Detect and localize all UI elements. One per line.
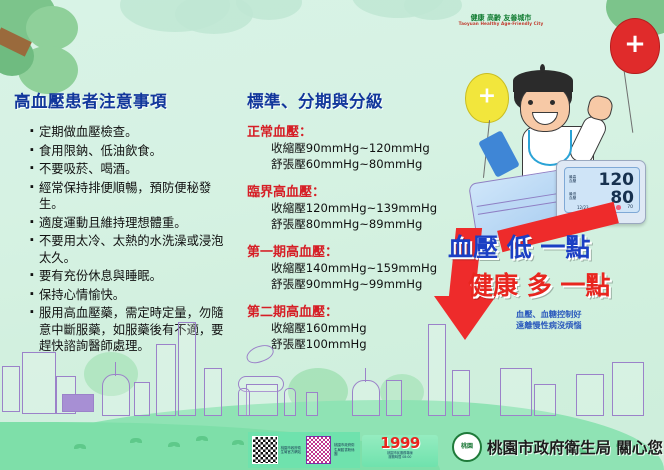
building	[204, 368, 222, 416]
systolic-label: 最高血壓	[569, 175, 579, 184]
logo-en-line: Taoyuan Healthy Age-Friendly City	[452, 22, 550, 27]
building	[428, 324, 446, 416]
city-skyline	[0, 318, 664, 428]
government-signature: 桃園 桃園市政府衛生局 關心您	[452, 432, 663, 462]
yellow-balloon: +	[465, 73, 509, 123]
systolic-range: 收縮壓90mmHg~120mmHg	[271, 140, 457, 156]
doctor-eye	[528, 100, 533, 105]
antenna-icon	[115, 362, 116, 376]
heart-icon	[616, 205, 621, 210]
systolic-range: 收縮壓120mmHg~139mmHg	[271, 200, 457, 216]
antenna-icon	[365, 368, 366, 382]
building	[612, 362, 644, 416]
systolic-range: 收縮壓140mmHg~159mmHg	[271, 260, 457, 276]
middle-heading: 標準、分期與分級	[247, 88, 457, 112]
plus-icon: +	[478, 84, 496, 109]
diastolic-range: 舒張壓90mmHg~99mmHg	[271, 276, 457, 292]
list-item: 定期做血壓檢查。	[28, 124, 229, 141]
qr-code-website[interactable]	[252, 436, 278, 464]
city-logo-badge: 健康 高齡 友善城市 Taoyuan Healthy Age-Friendly …	[452, 14, 550, 36]
building	[178, 322, 196, 416]
tower	[306, 392, 318, 416]
building	[284, 388, 296, 416]
hero-line-1: 血壓 低 一點	[448, 228, 590, 264]
plus-icon: +	[624, 29, 646, 59]
building	[386, 380, 402, 416]
list-item: 不要用太冷、太熱的水洗澡或浸泡太久。	[28, 233, 229, 266]
tower	[102, 374, 130, 416]
satellite-dish-icon	[244, 342, 276, 367]
balloon-string	[624, 71, 634, 133]
list-item: 食用限鈉、低油飲食。	[28, 143, 229, 160]
hotline-badge[interactable]: 1999 桃園市民服務專線 服務時間 08:00 免費	[362, 435, 438, 467]
building	[534, 384, 556, 416]
category-label: 臨界高血壓：	[247, 181, 457, 200]
qr-code-panel: 桃園市政府衛生局官方網站 桃園市政府衛生局臉書粉絲團	[248, 432, 360, 468]
category-label: 正常血壓：	[247, 121, 457, 140]
building	[62, 394, 94, 412]
tower	[352, 380, 380, 416]
hero-line-2: 健康 多 一點	[468, 266, 610, 302]
building	[22, 352, 56, 414]
qr-code-facebook[interactable]	[306, 436, 332, 464]
doctor-eye	[550, 100, 555, 105]
cuff-band	[477, 192, 565, 215]
hero-headline: 血壓 低 一點 健康 多 一點	[446, 228, 664, 320]
list-item: 不要吸菸、喝酒。	[28, 161, 229, 178]
poster-root: 健康 高齡 友善城市 Taoyuan Healthy Age-Friendly …	[0, 0, 664, 470]
building	[452, 370, 470, 416]
list-item: 要有充份休息與睡眠。	[28, 268, 229, 285]
middle-column: 標準、分期與分級 正常血壓： 收縮壓90mmHg~120mmHg 舒張壓60mm…	[247, 88, 457, 352]
footer-bar: 桃園市政府衛生局官方網站 桃園市政府衛生局臉書粉絲團 1999 桃園市民服務專線…	[0, 430, 664, 470]
systolic-value: 120	[599, 170, 635, 190]
list-item: 經常保持排便順暢，預防便秘發生。	[28, 180, 229, 213]
hotline-number: 1999	[362, 435, 438, 451]
list-item: 保持心情愉快。	[28, 287, 229, 304]
hotline-sub-2: 服務時間 08:00	[362, 455, 438, 459]
city-seal-icon: 桃園	[452, 432, 482, 462]
left-heading: 高血壓患者注意事項	[14, 88, 229, 112]
pulse-value: 70	[627, 205, 633, 210]
building	[576, 374, 604, 416]
building	[2, 366, 20, 412]
building	[238, 388, 250, 416]
category-label: 第一期高血壓：	[247, 241, 457, 260]
red-balloon: +	[610, 18, 660, 74]
qr-caption: 桃園市政府衛生局臉書粉絲團	[334, 443, 356, 456]
doctor-hair	[513, 70, 573, 92]
building	[134, 382, 150, 416]
gov-department-text: 桃園市政府衛生局 關心您	[487, 436, 663, 458]
building	[246, 384, 278, 416]
tree-foliage	[26, 6, 78, 50]
diastolic-range: 舒張壓60mmHg~80mmHg	[271, 156, 457, 172]
qr-caption: 桃園市政府衛生局官方網站	[281, 446, 303, 455]
list-item: 適度運動且維持理想體重。	[28, 215, 229, 232]
diastolic-range: 舒張壓80mmHg~89mmHg	[271, 216, 457, 232]
building	[500, 368, 532, 416]
diastolic-label: 最低血壓	[569, 192, 579, 201]
doctor-hair-tuft	[540, 64, 545, 73]
building	[156, 344, 176, 416]
left-column: 高血壓患者注意事項 定期做血壓檢查。 食用限鈉、低油飲食。 不要吸菸、喝酒。 經…	[14, 88, 229, 357]
